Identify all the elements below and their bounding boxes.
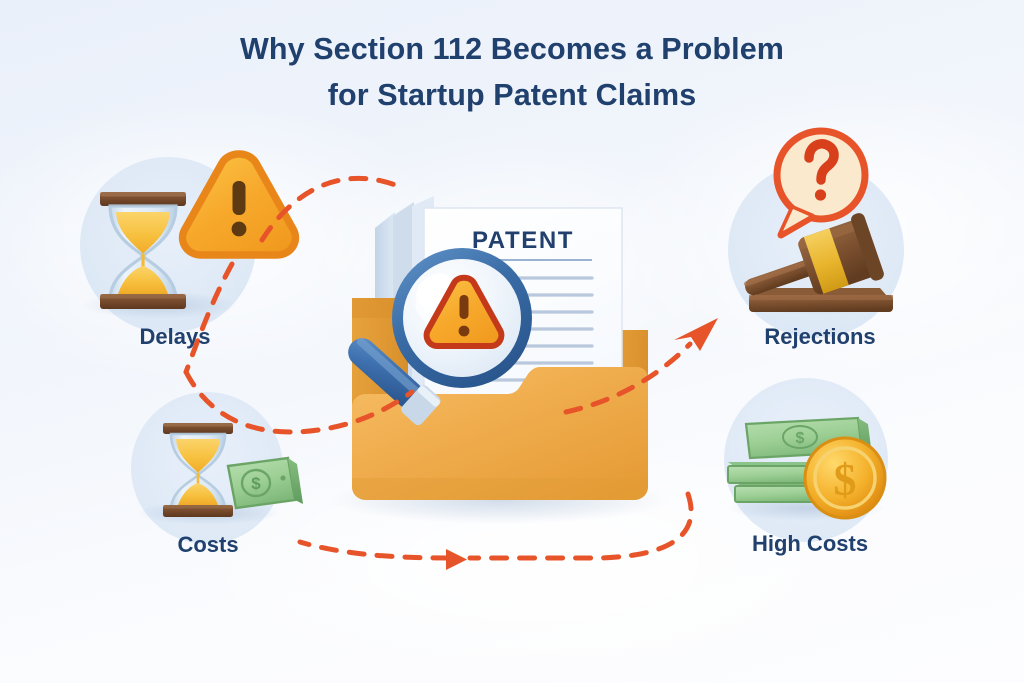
page-title: Why Section 112 Becomes a Problem for St… [0, 26, 1024, 119]
connector-bottom-to-costs [300, 542, 448, 558]
connector-delays-to-center [262, 178, 398, 240]
connector-delays-down [186, 264, 232, 372]
connector-highcosts-bottom [470, 494, 691, 558]
node-label-delays: Delays [140, 324, 211, 350]
node-label-costs: Costs [177, 532, 238, 558]
connector-center-to-rejections [566, 344, 690, 412]
node-label-rejections: Rejections [764, 324, 875, 350]
node-label-high-costs: High Costs [752, 531, 868, 557]
title-line-1: Why Section 112 Becomes a Problem [0, 26, 1024, 72]
connector-costs-to-center [186, 372, 412, 432]
arrowhead-to-costs [446, 549, 467, 570]
arrowhead-to-rejections [674, 318, 718, 351]
infographic-canvas: Why Section 112 Becomes a Problem for St… [0, 0, 1024, 683]
title-line-2: for Startup Patent Claims [0, 72, 1024, 118]
